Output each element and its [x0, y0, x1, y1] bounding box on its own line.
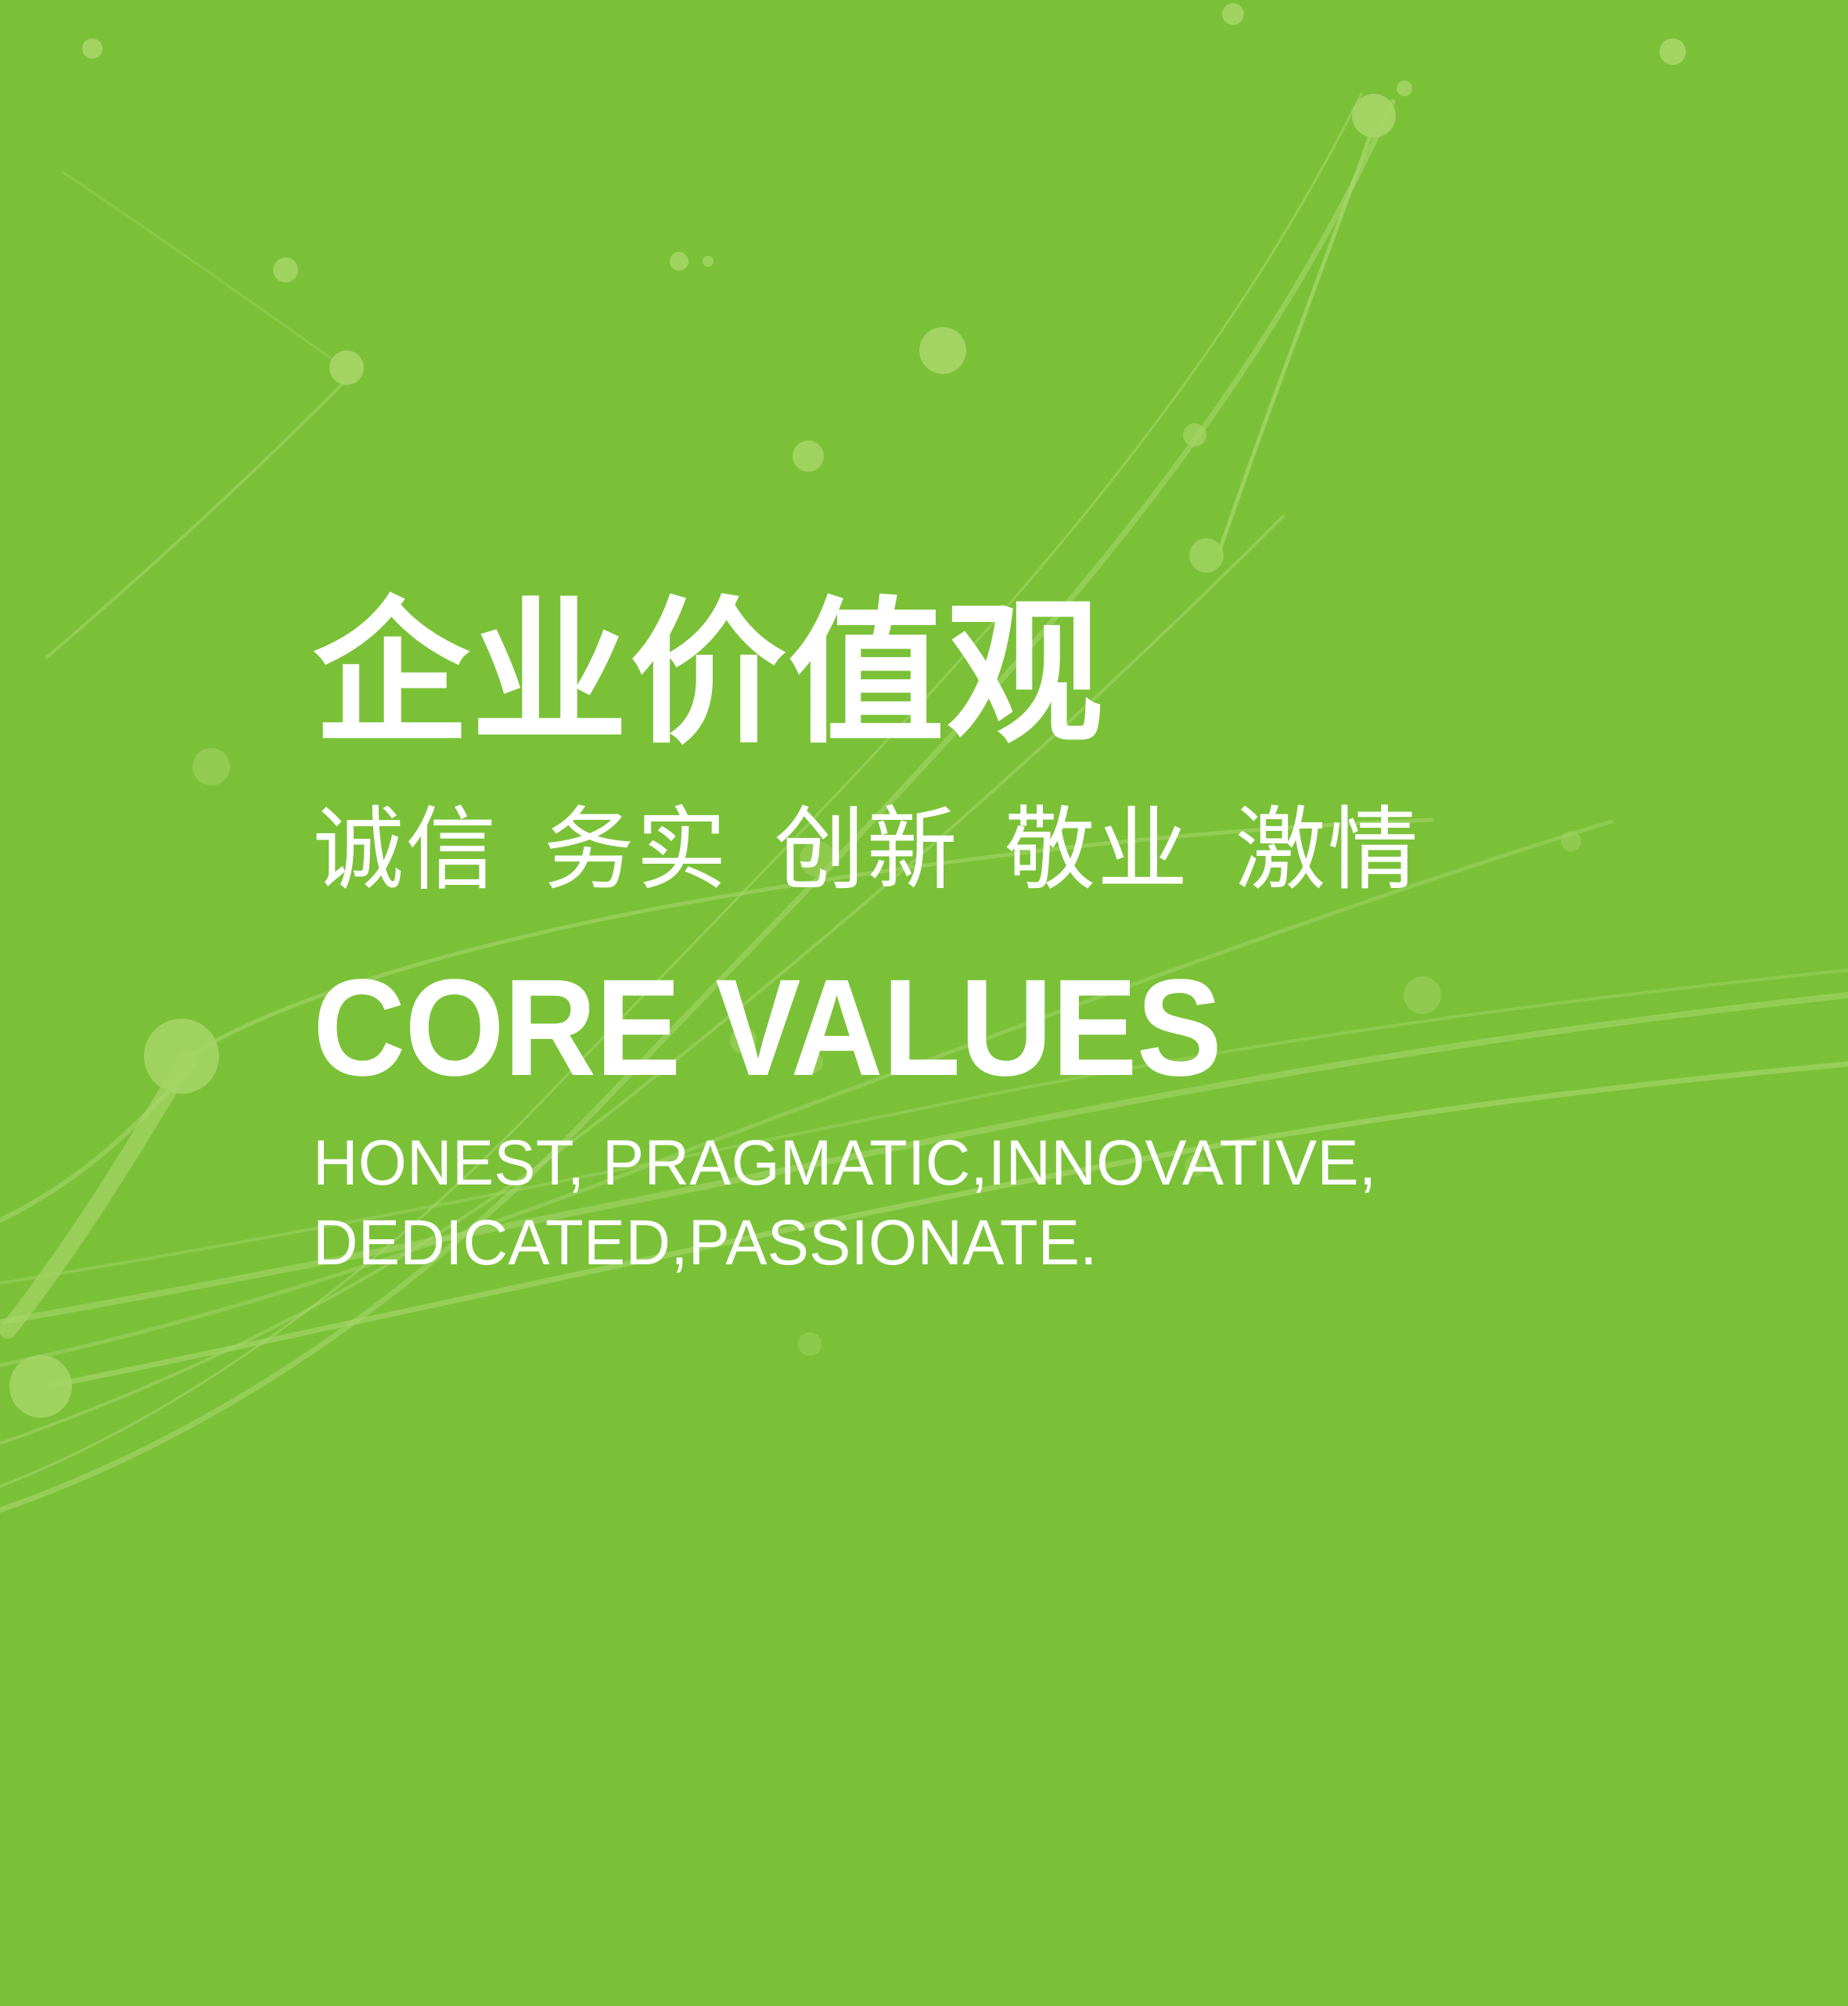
decor-dot: [1183, 423, 1206, 447]
curve-upper-left-connector: [47, 374, 352, 657]
value-word-dedicated-cn: 敬业: [1005, 803, 1190, 898]
value-word-pragmatic-cn: 务实: [544, 803, 729, 898]
decor-dot: [670, 252, 689, 271]
decor-node: [1352, 94, 1396, 138]
body-text-english: HONEST, PRAGMATIC,INNOVATIVE, DEDICATED,…: [313, 1123, 1603, 1284]
decor-dot: [703, 256, 714, 267]
body-line-2: DEDICATED,PASSIONATE.: [313, 1203, 1603, 1284]
curve-fan-3: [0, 1064, 196, 1220]
page-title-english: CORE VALUES: [313, 959, 1623, 1097]
decor-dot: [1659, 38, 1686, 65]
value-word-honest-cn: 诚信: [313, 803, 498, 898]
decor-node: [144, 1019, 219, 1094]
decor-dot: [798, 1332, 822, 1356]
curve-top-node-stem: [1221, 125, 1374, 548]
page-title-chinese: 企业价值观: [313, 595, 1721, 754]
decor-dot: [82, 38, 102, 59]
body-line-1: HONEST, PRAGMATIC,INNOVATIVE,: [313, 1123, 1603, 1204]
decor-dot: [793, 440, 824, 472]
poster-canvas: 企业价值观 诚信务实创新敬业激情 CORE VALUES HONEST, PRA…: [0, 0, 1848, 2006]
value-word-passionate-cn: 激情: [1235, 803, 1421, 898]
decor-dot: [192, 748, 230, 786]
decor-dot: [1189, 538, 1224, 573]
curve-fan-1: [8, 1058, 188, 1330]
headline-block: 企业价值观 诚信务实创新敬业激情 CORE VALUES HONEST, PRA…: [313, 595, 1721, 1284]
decor-node: [9, 1355, 72, 1418]
decor-dot: [273, 257, 298, 282]
decor-node: [329, 351, 364, 385]
decor-dot: [1397, 81, 1412, 96]
value-word-innovative-cn: 创新: [774, 803, 959, 898]
decor-dot: [1222, 3, 1244, 25]
decor-node: [919, 327, 966, 374]
subtitle-chinese: 诚信务实创新敬业激情: [313, 803, 1721, 898]
curve-upper-left-connector-2: [63, 172, 344, 368]
